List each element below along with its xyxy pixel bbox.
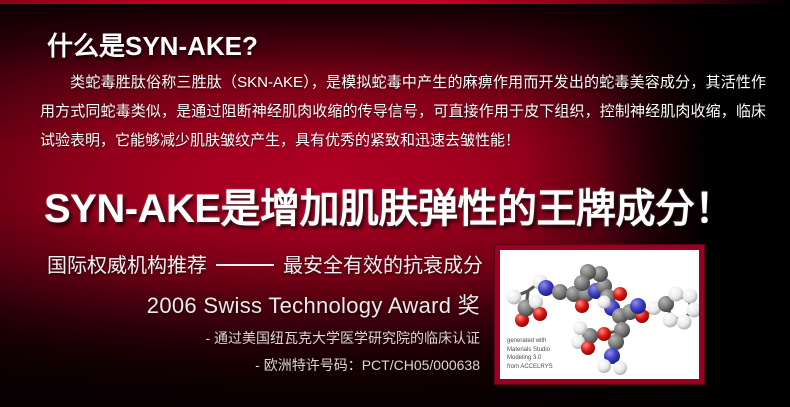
recommendation-left-text: 国际权威机构推荐 <box>47 255 207 277</box>
molecule-image: generated with Materials Studio Modeling… <box>500 250 699 379</box>
molecule-image-card: generated with Materials Studio Modeling… <box>494 244 705 385</box>
banner-content: 什么是SYN-AKE? 类蛇毒胜肽俗称三胜肽（SKN-AKE），是模拟蛇毒中产生… <box>0 0 790 407</box>
body-paragraph: 类蛇毒胜肽俗称三胜肽（SKN-AKE），是模拟蛇毒中产生的麻痹作用而开发出的蛇毒… <box>40 68 766 155</box>
award-block: 2006 Swiss Technology Award 奖 - 通过美国纽瓦克大… <box>0 288 490 375</box>
recommendation-line: 国际权威机构推荐最安全有效的抗衰成分 <box>47 249 483 278</box>
horizontal-rule <box>216 264 274 266</box>
caption-line-2: Materials Studio <box>507 346 553 355</box>
headline: SYN-AKE是增加肌肤弹性的王牌成分！ <box>44 176 734 234</box>
caption-line-4: from ACCELRYS <box>507 363 553 372</box>
award-title: 2006 Swiss Technology Award 奖 <box>0 288 480 320</box>
body-paragraph-text: 类蛇毒胜肽俗称三胜肽（SKN-AKE），是模拟蛇毒中产生的麻痹作用而开发出的蛇毒… <box>40 74 766 149</box>
syn-ake-promo-banner: 什么是SYN-AKE? 类蛇毒胜肽俗称三胜肽（SKN-AKE），是模拟蛇毒中产生… <box>0 0 790 407</box>
molecule-image-caption: generated with Materials Studio Modeling… <box>507 337 553 371</box>
caption-line-3: Modeling 3.0 <box>507 354 553 363</box>
caption-line-1: generated with <box>507 337 553 346</box>
award-certification-line: - 通过美国纽瓦克大学医学研究院的临床认证 <box>0 328 480 348</box>
award-patent-line: - 欧洲特许号码：PCT/CH05/000638 <box>0 355 480 375</box>
page-title: 什么是SYN-AKE? <box>47 26 258 63</box>
recommendation-right-text: 最安全有效的抗衰成分 <box>283 255 483 277</box>
